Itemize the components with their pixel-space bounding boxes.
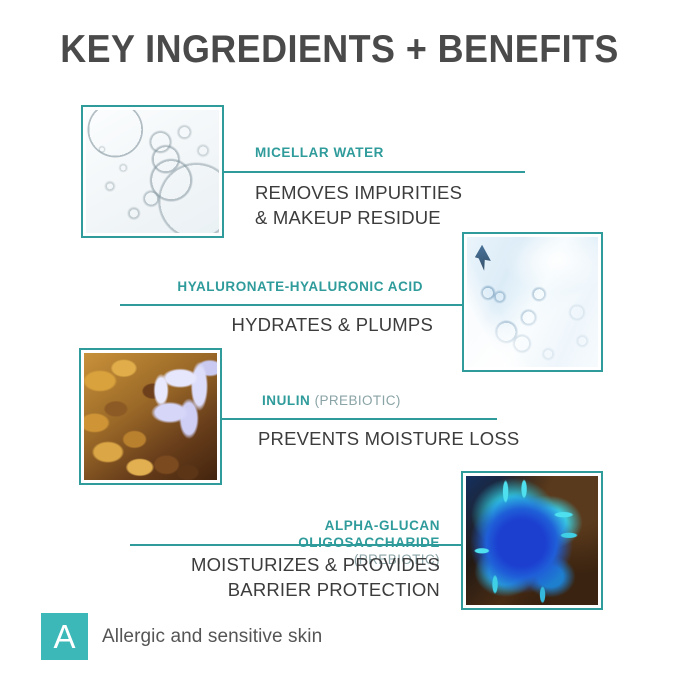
ingredient-name-2-text: HYALURONATE-HYALURONIC ACID xyxy=(177,279,423,294)
ingredient-block-3: INULIN (PREBIOTIC) xyxy=(262,392,562,409)
ingredient-name-4-text: ALPHA-GLUCAN OLIGOSACCHARIDE xyxy=(298,518,440,550)
ingredient-block-1: MICELLAR WATER xyxy=(255,144,545,161)
ingredient-benefit-block-1: REMOVES IMPURITIES & MAKEUP RESIDUE xyxy=(255,180,555,230)
footer-skin-type: A Allergic and sensitive skin xyxy=(41,613,322,660)
footer-label: Allergic and sensitive skin xyxy=(102,626,322,648)
ingredient-block-2: HYALURONATE-HYALURONIC ACID xyxy=(123,278,423,295)
ingredient-image-micellar-water xyxy=(81,105,224,238)
ingredient-image-hyaluronic-acid xyxy=(462,232,603,372)
hyaluronic-acid-gel-photo xyxy=(467,237,598,367)
ingredient-name-3-text: INULIN xyxy=(262,393,310,408)
ingredient-benefit-1: REMOVES IMPURITIES & MAKEUP RESIDUE xyxy=(255,180,555,230)
ingredient-name-3: INULIN (PREBIOTIC) xyxy=(262,392,562,409)
microbe-cell-photo xyxy=(466,476,598,605)
ingredient-benefit-block-3: PREVENTS MOISTURE LOSS xyxy=(258,426,558,451)
connector-rule-1 xyxy=(224,171,525,173)
ingredient-qualifier-3: (PREBIOTIC) xyxy=(315,393,401,408)
ingredient-benefit-block-4: MOISTURIZES & PROVIDES BARRIER PROTECTIO… xyxy=(130,552,440,602)
ingredient-image-inulin xyxy=(79,348,222,485)
ingredient-benefit-4: MOISTURIZES & PROVIDES BARRIER PROTECTIO… xyxy=(130,552,440,602)
chicory-root-and-flower-photo xyxy=(84,353,217,480)
ingredient-name-2: HYALURONATE-HYALURONIC ACID xyxy=(123,278,423,295)
connector-rule-2 xyxy=(120,304,463,306)
ingredient-benefit-3: PREVENTS MOISTURE LOSS xyxy=(258,426,558,451)
allergy-badge-letter: A xyxy=(53,620,75,653)
ingredient-image-alpha-glucan xyxy=(461,471,603,610)
allergy-badge-icon: A xyxy=(41,613,88,660)
micellar-water-bubbles-photo xyxy=(86,110,219,233)
ingredient-name-1: MICELLAR WATER xyxy=(255,144,545,161)
ingredient-name-1-text: MICELLAR WATER xyxy=(255,145,384,160)
page-title: KEY INGREDIENTS + BENEFITS xyxy=(27,28,652,72)
ingredient-benefit-2: HYDRATES & PLUMPS xyxy=(123,312,433,337)
infographic-root: KEY INGREDIENTS + BENEFITS MICELLAR WATE… xyxy=(0,0,679,679)
connector-rule-3 xyxy=(222,418,497,420)
ingredient-benefit-block-2: HYDRATES & PLUMPS xyxy=(123,312,433,337)
